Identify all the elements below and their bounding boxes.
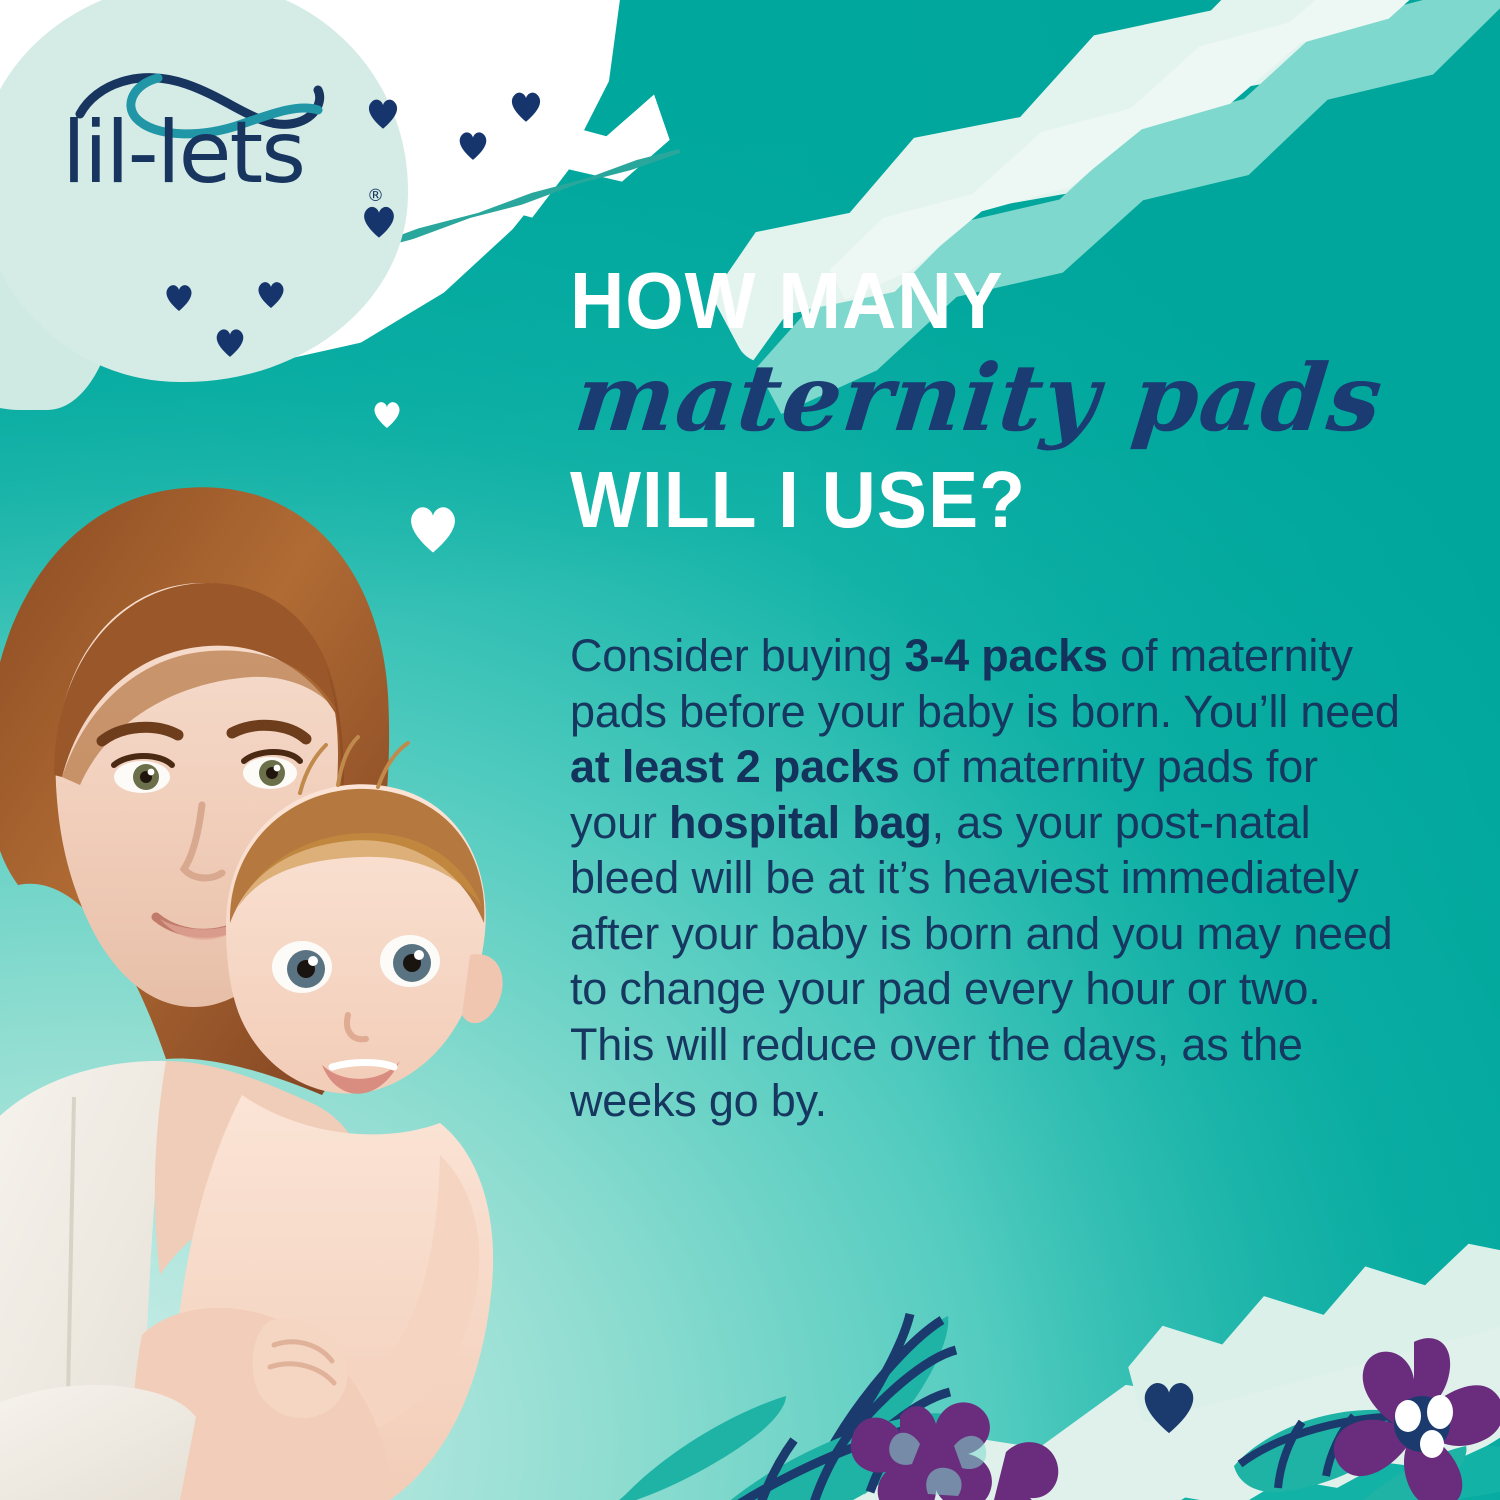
- headline-script-word: maternity pads: [570, 342, 1473, 454]
- headline-line-1: HOW MANY: [570, 262, 1397, 340]
- navy-heart-icon: [255, 278, 287, 310]
- headline-line-2: WILL I USE?: [570, 461, 1397, 539]
- body-emphasis: 3-4 packs: [905, 630, 1108, 681]
- body-emphasis: hospital bag: [669, 797, 932, 848]
- brand-logo[interactable]: lil-lets ®: [62, 62, 362, 222]
- navy-heart-icon: [508, 88, 544, 124]
- body-text: Consider buying: [570, 630, 905, 681]
- navy-heart-icon: [163, 281, 195, 313]
- navy-heart-icon: [1138, 1375, 1200, 1437]
- body-emphasis: at least 2 packs: [570, 741, 900, 792]
- leaf-icon: [600, 1388, 790, 1500]
- flower-icon: [1322, 1330, 1500, 1500]
- flower-icon: [836, 1392, 1066, 1500]
- navy-heart-icon: [456, 128, 490, 162]
- poster-canvas: lil-lets ®: [0, 0, 1500, 1500]
- navy-heart-icon: [213, 325, 247, 359]
- white-heart-icon: [371, 398, 403, 430]
- logo-wordmark: lil-lets: [62, 110, 304, 196]
- navy-heart-icon: [360, 202, 398, 240]
- body-paragraph: Consider buying 3-4 packs of maternity p…: [570, 628, 1416, 1128]
- headline-block: HOW MANY maternity pads WILL I USE?: [570, 262, 1450, 539]
- navy-heart-icon: [365, 95, 401, 131]
- mother-and-baby-photo: [0, 455, 570, 1500]
